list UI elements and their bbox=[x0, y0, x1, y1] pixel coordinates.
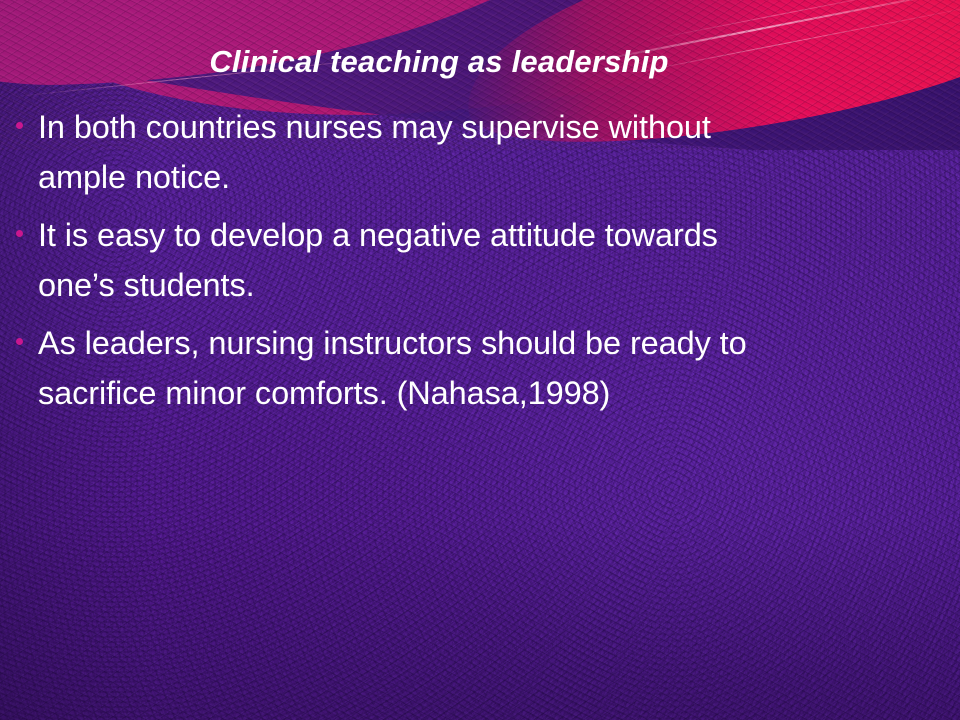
bullet-dot-icon bbox=[16, 338, 23, 345]
bullet-item-text: It is easy to develop a negative attitud… bbox=[38, 210, 798, 310]
bullet-list: In both countries nurses may supervise w… bbox=[16, 102, 896, 426]
bullet-item-text: In both countries nurses may supervise w… bbox=[38, 102, 798, 202]
bullet-dot-icon bbox=[16, 122, 23, 129]
bullet-item: It is easy to develop a negative attitud… bbox=[16, 210, 896, 310]
bullet-item: In both countries nurses may supervise w… bbox=[16, 102, 896, 202]
presentation-slide: Clinical teaching as leadership In both … bbox=[0, 0, 960, 720]
bullet-item-text: As leaders, nursing instructors should b… bbox=[38, 318, 838, 418]
slide-content: Clinical teaching as leadership In both … bbox=[0, 0, 960, 720]
bullet-dot-icon bbox=[16, 230, 23, 237]
bullet-item: As leaders, nursing instructors should b… bbox=[16, 318, 896, 418]
slide-title: Clinical teaching as leadership bbox=[0, 44, 878, 80]
